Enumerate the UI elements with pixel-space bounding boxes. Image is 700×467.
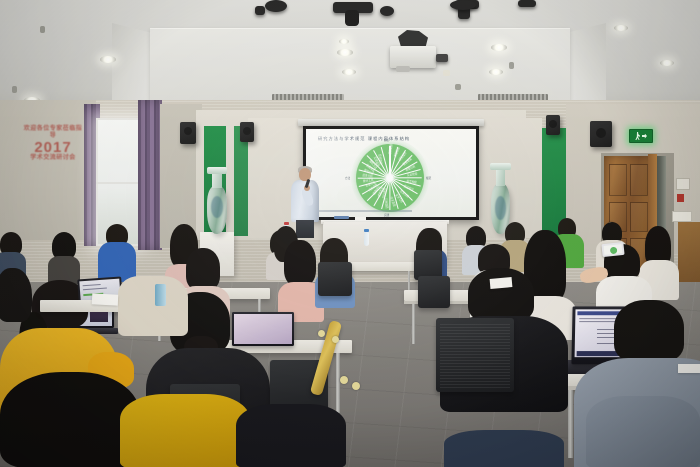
ceiling-spotlight-icon [265,0,287,12]
speaker-cone-icon [596,128,606,138]
person-hair [614,300,684,362]
sprinkler-head-icon [40,26,45,33]
water-bottle [155,284,166,306]
chair[interactable] [418,276,450,308]
door-panel [630,202,648,232]
downlight-icon [491,44,507,51]
person-hair [0,372,140,467]
pie-divider [389,178,390,210]
chair-mesh [440,322,510,388]
ceiling-smoke-detector-icon [443,70,450,76]
porcelain-vase-left [207,186,227,234]
table-leg [412,304,415,344]
door-panel [630,164,648,196]
sprinkler-head-icon [509,62,514,69]
spotlight-head-icon [345,10,359,26]
laptop-row1-center[interactable] [232,312,294,346]
wall-speaker-right [546,115,560,135]
person-hair [468,268,534,322]
banner-line-3: 学术交流研讨会 [30,155,76,161]
window-mullion [96,182,142,184]
sprinkler-head-icon [455,84,461,90]
light-switch-plate[interactable] [676,178,690,190]
wall-speaker-left-2 [240,122,254,142]
ceiling-spotlight-icon [450,0,476,10]
person-hair [186,248,220,290]
downlight-icon [660,60,674,66]
table-leg [568,390,573,458]
banner-line-1: 欢迎各位专家莅临指导 [24,126,83,139]
downlight-icon [489,69,503,75]
person-shirt [586,396,700,467]
wall-banner-text: 欢迎各位专家莅临指导 2017 学术交流研讨会 [22,126,84,172]
ceiling-spotlight-icon [255,6,265,15]
vase-decoration [495,196,506,220]
ceiling-spotlight-icon [380,6,394,16]
wall-speaker-left [180,122,196,144]
downlight-icon [342,69,356,75]
person-hair [0,268,32,322]
downlight-icon [614,25,628,31]
skateboard-wheel-icon [352,382,360,390]
phone-screen [604,244,623,255]
smartphone[interactable] [601,242,624,257]
curtain-right [138,100,162,250]
ceiling-spotlight-icon [518,0,536,7]
ceiling-projector [390,46,436,68]
vase-lip-left [207,167,227,174]
person-shirt [118,276,188,336]
chair[interactable] [318,262,352,296]
banner-year: 2017 [22,140,84,155]
speaker-cone-icon [243,127,251,135]
presenter-trousers [296,220,314,238]
chart-label-bottom: 实践 [384,213,389,217]
running-man-icon [635,132,640,140]
chart-label-top: 绪论 [384,138,389,142]
paper-sheet [678,364,700,373]
chart-label-left: 方法 [345,176,350,180]
speaker-cone-icon [549,120,557,128]
water-bottle [364,232,369,246]
projector-cable [436,54,448,62]
paper-sheet [92,293,119,305]
skateboard-wheel-icon [318,330,325,337]
slide-pie-chart: 研究选题文献综述研究设计数据收集数据分析实证检验模型构建假设提出结果讨论论文写作… [356,144,424,212]
projection-screen: 研究方法与学术规范 课程内容体系结构 研究选题文献综述研究设计数据收集数据分析实… [306,129,476,217]
podium-marker-pen [334,216,349,219]
screen-text-line [83,284,101,286]
person-shirt [120,394,250,467]
person-shirt [236,404,346,467]
screen-text-line [83,288,107,291]
skateboard-wheel-icon [340,376,348,384]
projection-screen-case [298,119,484,126]
fire-alarm-button[interactable] [677,194,684,202]
phone-chart-preview [610,246,618,254]
exit-arrow-icon [642,134,647,139]
bottle-cap-icon [284,222,289,225]
door-panel [609,164,627,196]
wooden-cabinet [678,222,700,288]
slide-footer-rule [316,210,412,212]
laptop-screen-content [234,314,292,344]
speaker-cone-icon [184,127,192,135]
podium-paper [355,217,366,220]
downlight-icon [339,39,349,44]
bottle-cap-icon [364,229,369,232]
person-shirt [444,430,564,467]
downlight-icon [100,56,116,63]
vase-lip-right [490,163,511,170]
screen-text-line [579,318,619,319]
green-wall-panel-left-2 [234,126,248,236]
chart-label-right: 规范 [426,176,431,180]
vase-neck-right [496,168,505,186]
exit-sign [629,129,653,143]
power-outlet [672,211,692,222]
projector-lens-icon [396,66,410,72]
skateboard-wheel-icon [332,336,339,343]
lecture-hall-photo: 欢迎各位专家莅临指导 2017 学术交流研讨会 [0,0,700,467]
sprinkler-head-icon [12,86,17,93]
paper-sheet [490,277,513,289]
vase-neck-left [212,172,222,188]
person-hair-long [284,240,316,286]
table-leg [336,353,340,413]
wall-speaker-far-right [590,121,612,147]
downlight-icon [337,49,353,56]
vase-decoration [211,196,223,218]
chair[interactable] [436,318,514,392]
